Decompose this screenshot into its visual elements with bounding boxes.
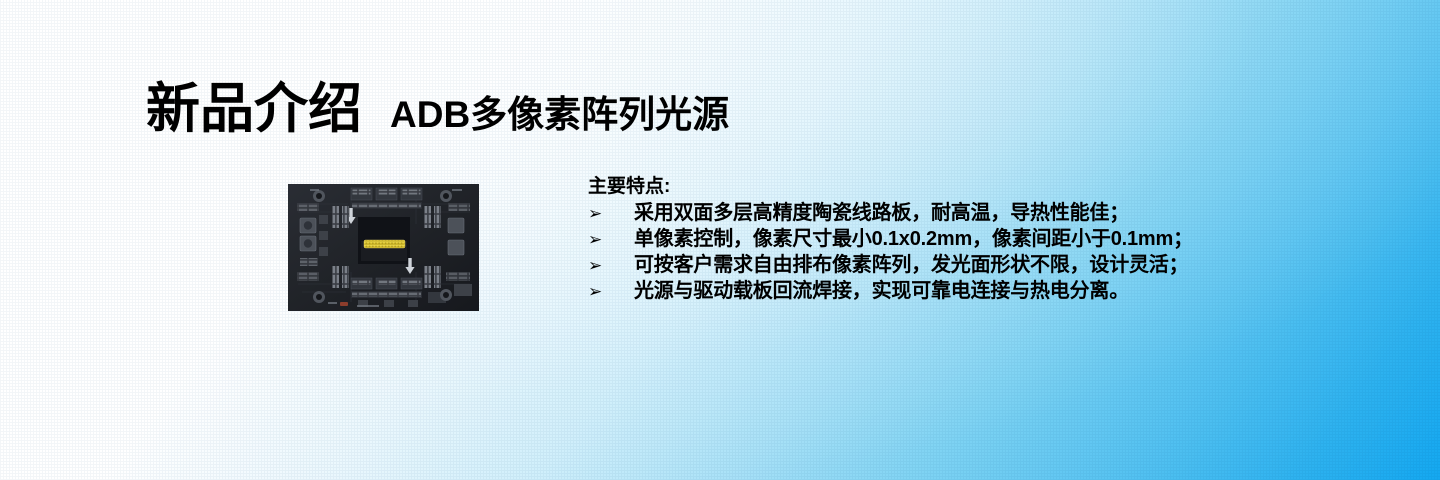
slide-title: 新品介绍 ADB多像素阵列光源	[146, 82, 729, 136]
arrow-bullet-icon: ➢	[588, 258, 634, 275]
pcb-top-connectors	[351, 188, 422, 209]
title-main-text: 新品介绍	[146, 82, 362, 136]
arrow-bullet-icon: ➢	[588, 284, 634, 301]
feature-text-1: 采用双面多层高精度陶瓷线路板，耐高温，导热性能佳；	[634, 203, 1129, 223]
feature-item-1: ➢ 采用双面多层高精度陶瓷线路板，耐高温，导热性能佳；	[588, 203, 1348, 223]
slide-canvas: 新品介绍 ADB多像素阵列光源	[0, 0, 1440, 480]
arrow-bullet-icon: ➢	[588, 232, 634, 249]
pcb-red-marker	[340, 302, 348, 306]
feature-text-2: 单像素控制，像素尺寸最小0.1x0.2mm，像素间距小于0.1mm；	[634, 229, 1193, 249]
feature-item-3: ➢ 可按客户需求自由排布像素阵列，发光面形状不限，设计灵活；	[588, 255, 1348, 275]
title-subtitle-text: ADB多像素阵列光源	[390, 96, 729, 133]
arrow-bullet-icon: ➢	[588, 206, 634, 223]
features-block: 主要特点: ➢ 采用双面多层高精度陶瓷线路板，耐高温，导热性能佳； ➢ 单像素控…	[588, 175, 1348, 307]
feature-text-3: 可按客户需求自由排布像素阵列，发光面形状不限，设计灵活；	[634, 255, 1188, 275]
product-photo	[288, 184, 479, 311]
led-pixel-array	[358, 217, 410, 264]
feature-item-2: ➢ 单像素控制，像素尺寸最小0.1x0.2mm，像素间距小于0.1mm；	[588, 229, 1348, 249]
pcb-bottom-connectors	[351, 278, 422, 307]
feature-item-4: ➢ 光源与驱动载板回流焊接，实现可靠电连接与热电分离。	[588, 281, 1348, 301]
pcb-illustration	[288, 184, 479, 311]
feature-text-4: 光源与驱动载板回流焊接，实现可靠电连接与热电分离。	[634, 281, 1129, 301]
features-heading: 主要特点:	[588, 175, 1348, 199]
